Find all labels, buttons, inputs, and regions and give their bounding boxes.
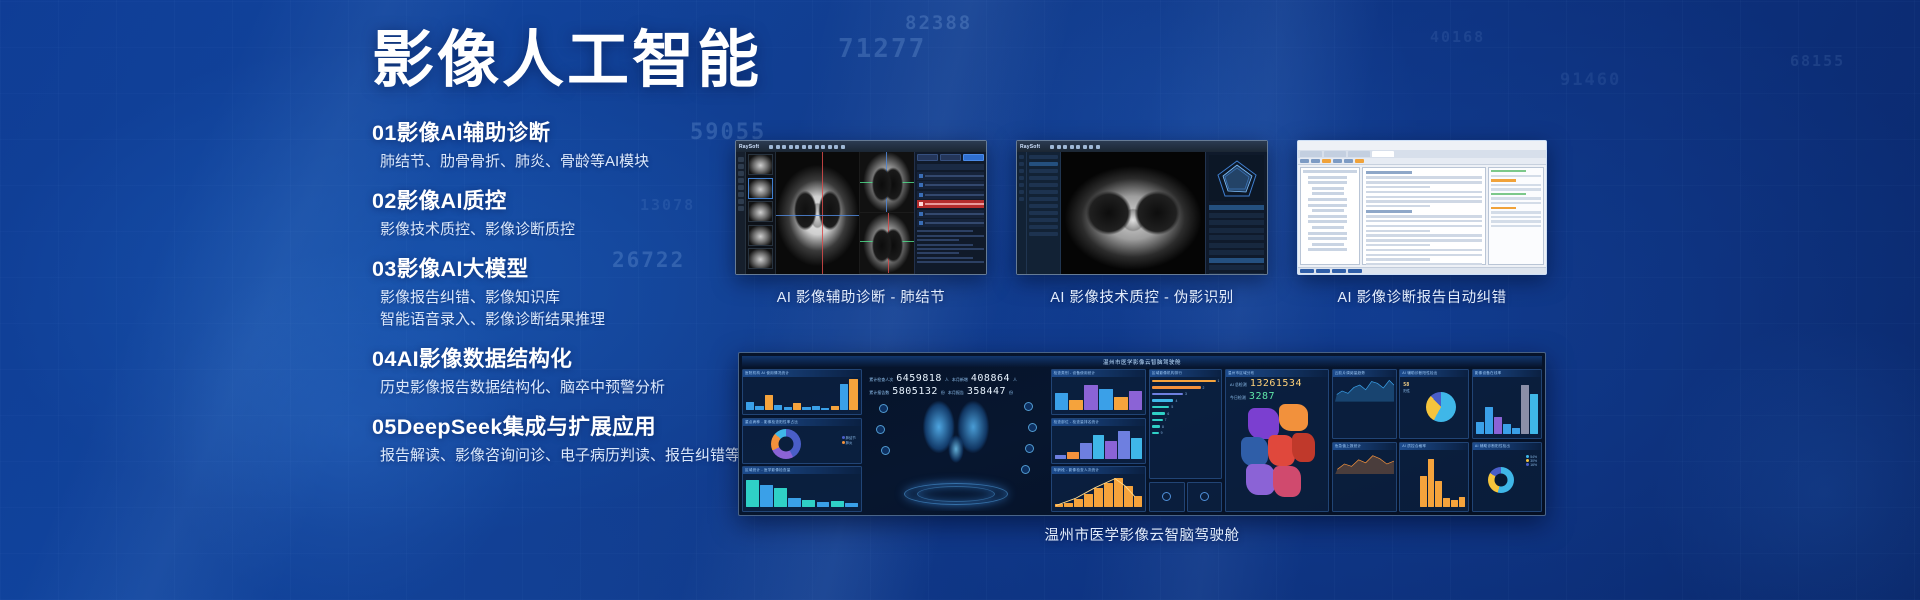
status-dot: [919, 221, 923, 225]
dashboard-column-map: 温州市区域分布 AI 总检测 13261534 今日检测 3287: [1225, 369, 1329, 512]
finding-row-alert[interactable]: [917, 200, 984, 208]
chart-card-ai-positive-pie[interactable]: AI 辅助诊断阳性检出 58 阳性: [1399, 369, 1469, 439]
status-button[interactable]: [1332, 269, 1346, 273]
dashboard-column-mid: 检查类别 - 设备使用统计 检查部位 - 检查量排名统计: [1051, 369, 1147, 512]
chart-card-device-usage[interactable]: 检查类别 - 设备使用统计: [1051, 369, 1147, 415]
measure-icon[interactable]: [1076, 145, 1080, 149]
series-thumbnail-selected[interactable]: [748, 178, 773, 199]
bar-chart: [745, 475, 859, 509]
tab[interactable]: [1324, 151, 1346, 157]
status-dot: [919, 193, 923, 197]
crosshair-horizontal: [776, 215, 859, 216]
qc-left-rail[interactable]: [1017, 152, 1027, 274]
kpi-label: 累计报告数: [869, 390, 889, 396]
finding-row[interactable]: [917, 172, 984, 180]
angle-icon[interactable]: [802, 145, 806, 149]
ranking-row[interactable]: 7: [1152, 418, 1220, 422]
dashboard-column-center: 累计检查人次 6459818 人 本月新增 408864 人 累计报告数 580…: [864, 369, 1048, 512]
card-title: 影像设备在线率: [1475, 371, 1502, 376]
ranking-row[interactable]: 9: [1152, 431, 1220, 435]
status-button[interactable]: [1316, 269, 1330, 273]
orb-icon[interactable]: [876, 425, 885, 434]
report-toolbar[interactable]: [1298, 158, 1546, 165]
bar-chart: [1054, 378, 1144, 412]
qc-analysis-panel[interactable]: [1205, 152, 1267, 274]
settings-icon[interactable]: [738, 199, 744, 204]
kpi-label: 今日检测: [1230, 395, 1246, 401]
kpi-and-hologram-panel: 累计检查人次 6459818 人 本月新增 408864 人 累计报告数 580…: [864, 369, 1048, 512]
kpi-label: AI 总检测: [1230, 382, 1247, 388]
qc-metric-row[interactable]: [1209, 250, 1264, 255]
chart-card-cloudfilm-trend[interactable]: 云胶片调阅量趋势: [1332, 369, 1397, 439]
card-title: 医院机构 AI 使用情况统计: [745, 371, 789, 376]
bar-chart: [1419, 451, 1466, 509]
cursor-icon[interactable]: [1050, 145, 1054, 149]
dashboard-column-trends: 云胶片调阅量趋势 危急值上报统计: [1332, 369, 1397, 512]
trend-line: [1054, 475, 1144, 511]
ranking-row[interactable]: 5: [1152, 405, 1220, 409]
mini-kpi-card[interactable]: [1149, 482, 1185, 512]
radar-chart-svg: [1215, 158, 1259, 198]
banner-root: 82388 71277 59055 26722 68155 40168 1307…: [0, 0, 1920, 600]
kpi-value: 408864: [971, 373, 1010, 384]
app-logo: RaySoft: [739, 144, 759, 150]
filter-button[interactable]: [940, 154, 961, 161]
chart-card-age-distribution[interactable]: 年龄段 - 影像检查人次统计: [1051, 466, 1147, 512]
line-chart: [1335, 378, 1394, 402]
series-thumbnail[interactable]: [748, 225, 773, 246]
chart-card-critical-values[interactable]: 危急值上报统计: [1332, 442, 1397, 512]
chart-card-region-volume[interactable]: 区域统计 - 医学影像检查量: [742, 466, 862, 512]
mini-kpi-card[interactable]: [1187, 482, 1223, 512]
qc-metric-row[interactable]: [1209, 213, 1264, 218]
print-icon[interactable]: [1344, 159, 1353, 163]
ranking-row[interactable]: 3: [1152, 392, 1220, 396]
window-level-icon[interactable]: [1070, 145, 1074, 149]
card-title: 年龄段 - 影像检查人次统计: [1054, 468, 1100, 473]
qc-study-list[interactable]: [1027, 152, 1061, 274]
print-icon[interactable]: [834, 145, 838, 149]
line-chart: [1335, 451, 1394, 475]
series-icon[interactable]: [738, 157, 744, 162]
finding-row[interactable]: [917, 219, 984, 227]
dashboard-section: 温州市医学影像云智脑驾驶舱 医院机构 AI 使用情况统计: [738, 352, 1546, 537]
ct-viewer-window[interactable]: RaySoft: [735, 140, 987, 275]
texture-number: 91460: [1560, 70, 1621, 90]
chart-card-ai-detection-donut[interactable]: AI 辅助诊断阳性检出 54% 30% 16%: [1472, 442, 1542, 512]
pie-stat-labels: 58 阳性: [1403, 382, 1410, 393]
open-icon[interactable]: [1311, 159, 1320, 163]
donut-legend: 54% 30% 16%: [1526, 455, 1537, 467]
report-navigation-tree[interactable]: [1300, 167, 1360, 265]
dashboard-column-stats-a: AI 辅助诊断阳性检出 58 阳性 AI 质控合格率: [1399, 369, 1469, 512]
refresh-button[interactable]: [917, 154, 938, 161]
region-map[interactable]: [1232, 402, 1322, 505]
qc-tool-icons[interactable]: [1050, 145, 1100, 149]
qc-metric-row[interactable]: [1209, 273, 1264, 276]
qc-metric-row[interactable]: [1209, 228, 1264, 233]
panel-action-buttons[interactable]: [917, 154, 984, 161]
crosshair-vertical: [822, 152, 823, 274]
mini-kpi-row: [1149, 482, 1223, 512]
ct-axial-view[interactable]: [776, 152, 860, 274]
ranking-row[interactable]: 4: [1152, 399, 1220, 403]
status-dot: [919, 212, 923, 216]
patient-icon[interactable]: [738, 164, 744, 169]
chart-card-region-map[interactable]: 温州市区域分布 AI 总检测 13261534 今日检测 3287: [1225, 369, 1329, 512]
qc-metric-row[interactable]: [1209, 243, 1264, 248]
crosshair-vertical: [888, 213, 889, 273]
dashboard-caption: 温州市医学影像云智脑驾驶舱: [738, 524, 1546, 545]
qc-metric-row[interactable]: [1209, 220, 1264, 225]
qc-metric-list[interactable]: [1209, 205, 1264, 275]
pan-icon[interactable]: [782, 145, 786, 149]
ct-left-rail[interactable]: [736, 152, 746, 274]
gauge-icon: [1200, 492, 1209, 501]
hologram-figure: [913, 392, 999, 484]
status-dot: [919, 183, 923, 187]
map-region[interactable]: [1279, 404, 1308, 431]
finding-row[interactable]: [917, 191, 984, 199]
texture-number: 40168: [1430, 28, 1485, 46]
chart-card-body-part-ranking[interactable]: 检查部位 - 检查量排名统计: [1051, 418, 1147, 464]
dashboard-window[interactable]: 温州市医学影像云智脑驾驶舱 医院机构 AI 使用情况统计: [738, 352, 1546, 516]
screenshot-ct-viewer[interactable]: RaySoft: [735, 140, 987, 275]
card-title: 危急值上报统计: [1335, 444, 1362, 449]
crosshair-horizontal: [860, 241, 914, 242]
page-title: 影像人工智能: [372, 28, 842, 94]
chart-card-qc-pass-rate[interactable]: AI 质控合格率: [1399, 442, 1469, 512]
ct-coronal-view[interactable]: [860, 152, 914, 213]
ai-findings-panel[interactable]: [914, 152, 986, 274]
bar-chart: [745, 378, 859, 412]
screenshot-report-corrector[interactable]: AI 影像诊断报告自动纠错: [1297, 140, 1547, 275]
app-logo: RaySoft: [1020, 144, 1040, 150]
export-icon[interactable]: [1096, 145, 1100, 149]
qc-viewer-window[interactable]: RaySoft: [1016, 140, 1268, 275]
texture-number: 71277: [838, 34, 926, 64]
series-thumbnail[interactable]: [748, 248, 773, 269]
orb-icon[interactable]: [1021, 465, 1030, 474]
orb-icon[interactable]: [1025, 444, 1034, 453]
series-thumbnail[interactable]: [748, 201, 773, 222]
kpi-value: 6459818: [896, 373, 942, 384]
kpi-unit: 份: [1009, 390, 1013, 396]
screenshot-qc-viewer[interactable]: RaySoft: [1016, 140, 1268, 275]
kpi-label: 累计检查人次: [869, 377, 893, 383]
ct-tool-icons[interactable]: [769, 145, 845, 149]
qc-metric-row[interactable]: [1209, 265, 1264, 270]
measure-icon[interactable]: [795, 145, 799, 149]
chart-card-device-online[interactable]: 影像设备在线率: [1472, 369, 1542, 439]
report-window[interactable]: [1297, 140, 1547, 275]
zoom-icon[interactable]: [1057, 145, 1061, 149]
kpi-row: 累计检查人次 6459818 人 本月新增 408864 人: [869, 373, 1043, 384]
feature-subtitle: 智能语音录入、影像诊断结果推理: [372, 309, 842, 331]
layout-icon[interactable]: [821, 145, 825, 149]
ranking-row[interactable]: 6: [1152, 412, 1220, 416]
kpi-value: 13261534: [1250, 378, 1302, 389]
tab-active[interactable]: [1372, 151, 1394, 157]
save-icon[interactable]: [1333, 159, 1342, 163]
ai-icon[interactable]: [1355, 159, 1364, 163]
annotate-icon[interactable]: [815, 145, 819, 149]
qc-toolbar[interactable]: RaySoft: [1017, 141, 1267, 152]
card-title: AI 质控合格率: [1402, 444, 1426, 449]
donut-chart: [771, 429, 801, 459]
map-region[interactable]: [1241, 437, 1268, 466]
chart-card-positive-rate-pie[interactable]: 重点病种 - 影像检查阳性率占比 肺结节 肺炎: [742, 418, 862, 464]
texture-number: 82388: [905, 12, 972, 34]
cursor-icon[interactable]: [769, 145, 773, 149]
map-region[interactable]: [1292, 433, 1315, 462]
finding-row[interactable]: [917, 181, 984, 189]
ai-icon[interactable]: [738, 192, 744, 197]
report-tabs[interactable]: [1298, 150, 1546, 158]
ranking-row[interactable]: 8: [1152, 425, 1220, 429]
help-icon[interactable]: [738, 206, 744, 211]
screenshot-caption: AI 影像技术质控 - 伪影识别: [1016, 286, 1268, 307]
ct-series-thumbnails[interactable]: [746, 152, 776, 274]
roi-icon[interactable]: [808, 145, 812, 149]
window-level-icon[interactable]: [789, 145, 793, 149]
artifact-detect-icon[interactable]: [1089, 145, 1093, 149]
status-button[interactable]: [1348, 269, 1362, 273]
kpi-unit: 人: [1013, 377, 1017, 383]
card-title: AI 辅助诊断阳性检出: [1475, 444, 1510, 449]
bar-chart: [1475, 378, 1539, 436]
dashboard-header: 温州市医学影像云智脑驾驶舱: [742, 356, 1542, 367]
findings-table-header: [917, 164, 984, 170]
map-region[interactable]: [1273, 466, 1300, 497]
status-button[interactable]: [1300, 269, 1314, 273]
card-title: 温州市区域分布: [1228, 371, 1255, 376]
ai-kpi-block: AI 总检测 13261534 今日检测 3287: [1230, 378, 1302, 402]
export-icon[interactable]: [841, 145, 845, 149]
ranking-row[interactable]: 2: [1152, 386, 1220, 390]
chart-card-hospital-ai-usage[interactable]: 医院机构 AI 使用情况统计: [742, 369, 862, 415]
qc-metric-row[interactable]: [1209, 205, 1264, 210]
kpi-label: 本月新增: [952, 377, 968, 383]
map-region[interactable]: [1246, 464, 1275, 495]
finding-row[interactable]: [917, 210, 984, 218]
crosshair-horizontal: [860, 182, 914, 183]
ct-sagittal-view[interactable]: [860, 213, 914, 274]
donut-chart: [1488, 467, 1514, 493]
dashboard-header-title: 温州市医学影像云智脑驾驶舱: [1103, 358, 1181, 366]
orb-icon[interactable]: [1024, 402, 1033, 411]
bar-chart: [1054, 427, 1144, 461]
history-icon[interactable]: [738, 178, 744, 183]
finding-description: [917, 230, 984, 263]
pie-chart: [1426, 392, 1456, 422]
analyze-button[interactable]: [963, 154, 984, 161]
kpi-unit: 人: [945, 377, 949, 383]
roi-icon[interactable]: [1083, 145, 1087, 149]
ranking-row[interactable]: 1: [1152, 379, 1220, 383]
orb-icon[interactable]: [879, 404, 888, 413]
pie-legend: 肺结节 肺炎: [842, 435, 856, 445]
chart-card-institution-ranking[interactable]: 区域影像机构排行 1 2 3 4 5: [1149, 369, 1223, 479]
dashboard-column-ranking: 区域影像机构排行 1 2 3 4 5: [1149, 369, 1223, 512]
folder-icon[interactable]: [738, 171, 744, 176]
tab[interactable]: [1300, 151, 1322, 157]
crosshair-vertical: [886, 152, 887, 212]
tab[interactable]: [1348, 151, 1370, 157]
ct-toolbar[interactable]: RaySoft: [736, 141, 986, 152]
card-title: 云胶片调阅量趋势: [1335, 371, 1365, 376]
qc-metric-row[interactable]: [1209, 258, 1264, 263]
qc-ct-image[interactable]: [1061, 152, 1205, 274]
report-statusbar[interactable]: [1298, 267, 1546, 274]
correct-icon[interactable]: [1322, 159, 1331, 163]
report-document[interactable]: [1362, 167, 1486, 265]
screenshot-caption: AI 影像辅助诊断 - 肺结节: [735, 286, 987, 307]
compare-icon[interactable]: [738, 185, 744, 190]
dashboard-column-stats-b: 影像设备在线率 AI 辅助诊断阳性检出: [1472, 369, 1542, 512]
reset-icon[interactable]: [828, 145, 832, 149]
card-title: 区域影像机构排行: [1152, 371, 1182, 376]
card-title: AI 辅助诊断阳性检出: [1402, 371, 1437, 376]
card-title: 检查类别 - 设备使用统计: [1054, 371, 1096, 376]
qc-metric-row[interactable]: [1209, 235, 1264, 240]
gauge-icon: [1162, 492, 1171, 501]
card-title: 重点病种 - 影像检查阳性率占比: [745, 420, 798, 425]
pan-icon[interactable]: [1063, 145, 1067, 149]
ai-correction-panel[interactable]: [1488, 167, 1544, 265]
report-titlebar: [1298, 141, 1546, 150]
card-title: 检查部位 - 检查量排名统计: [1054, 420, 1100, 425]
series-thumbnail[interactable]: [748, 154, 773, 175]
texture-number: 68155: [1790, 52, 1845, 70]
zoom-icon[interactable]: [776, 145, 780, 149]
orb-icon[interactable]: [1028, 423, 1037, 432]
orb-icon[interactable]: [881, 446, 890, 455]
card-title: 区域统计 - 医学影像检查量: [745, 468, 791, 473]
dashboard-column-left: 医院机构 AI 使用情况统计: [742, 369, 862, 512]
radar-chart: [1209, 155, 1264, 201]
alert-dot: [919, 202, 923, 206]
status-dot: [919, 174, 923, 178]
kpi-value: 3287: [1249, 391, 1275, 402]
screenshot-caption: AI 影像诊断报告自动纠错: [1297, 286, 1547, 307]
hologram-base-ring-inner: [917, 486, 995, 502]
new-icon[interactable]: [1300, 159, 1309, 163]
